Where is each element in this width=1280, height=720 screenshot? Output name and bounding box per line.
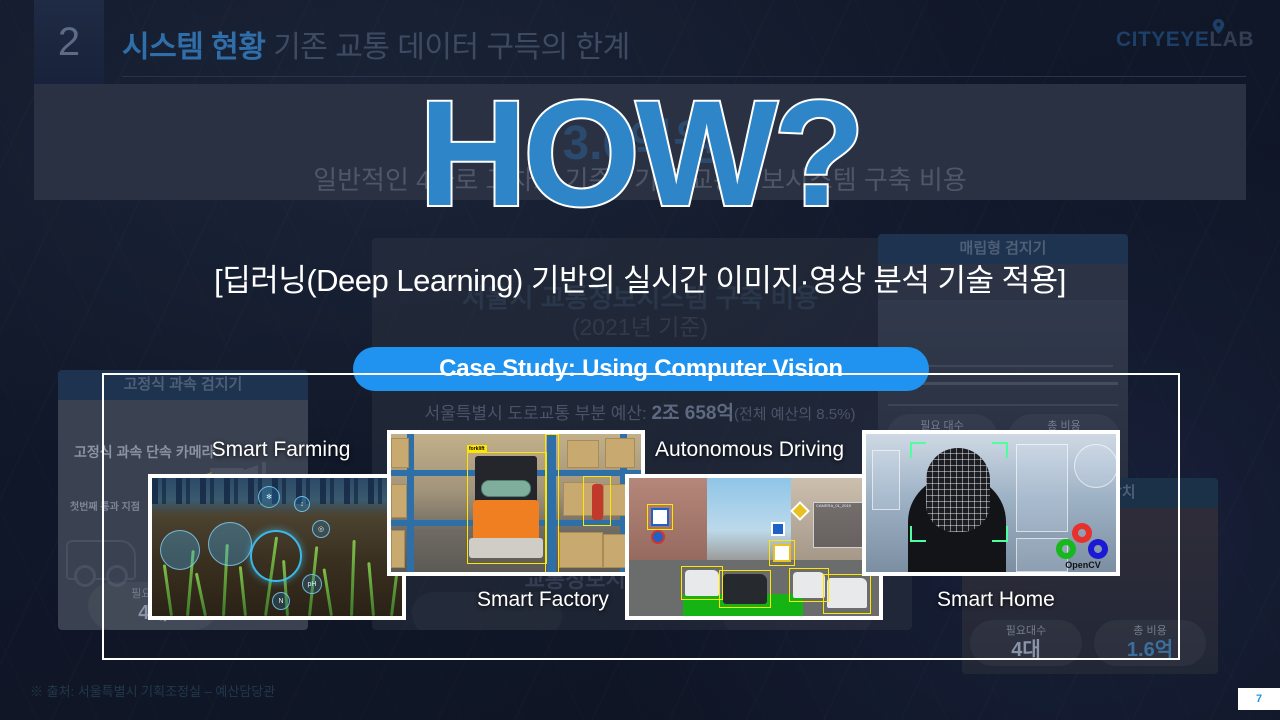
crosswalk-sign: [651, 508, 669, 526]
face-recognition-artwork: OpenCV: [866, 434, 1116, 572]
smart-factory-photo: forklift: [387, 430, 645, 576]
autonomous-driving-photo: CAMERA_01_2015: [625, 474, 883, 620]
source-note: ※ 출처: 서울특별시 기획조정실 – 예산담당관: [30, 681, 275, 700]
hud-panel: [1016, 444, 1068, 532]
card-label: Autonomous Driving: [655, 438, 844, 462]
location-pin-icon: [1212, 19, 1225, 34]
gas-tank: [481, 480, 531, 497]
brand-logo: CITYEYELAB: [1116, 28, 1254, 52]
page-title-rest: 기존 교통 데이터 구득의 한계: [273, 31, 630, 64]
crosswalk-sign: [773, 544, 791, 562]
vehicle-van: [793, 572, 825, 598]
hud-panel: [872, 450, 900, 510]
street-scene-artwork: CAMERA_01_2015: [629, 478, 879, 616]
agriculture-iot-artwork: ✻ ↕ ◎ pH N: [152, 478, 402, 616]
opencv-logo: OpenCV: [1054, 523, 1112, 569]
card-smart-factory[interactable]: forklift Smart Factory: [387, 430, 645, 576]
traffic-sign-no-parking: [651, 530, 665, 544]
page-title: 시스템 현황 기존 교통 데이터 구득의 한계: [122, 22, 630, 66]
vehicle-van: [685, 570, 719, 596]
face-bracket-icon: [992, 526, 1008, 542]
main-headline: [딥러닝(Deep Learning) 기반의 실시간 이미지·영상 분석 기술…: [0, 255, 1280, 300]
brand-logo-primary: CITYEYE: [1116, 28, 1209, 51]
card-smart-home[interactable]: OpenCV Smart Home: [862, 430, 1120, 576]
page-number: 7: [1238, 688, 1280, 710]
forklift-base: [469, 538, 543, 558]
detection-box-tag: forklift: [467, 445, 487, 453]
vehicle-car: [723, 574, 767, 604]
card-smart-farming[interactable]: Smart Farming ✻ ↕ ◎: [148, 474, 406, 620]
fire-extinguisher: [592, 484, 603, 520]
smart-home-photo: OpenCV: [862, 430, 1120, 576]
card-label: Smart Factory: [477, 588, 609, 612]
page-title-highlight: 시스템 현황: [122, 31, 265, 64]
section-number: 2: [58, 22, 80, 62]
card-label: Smart Home: [937, 588, 1055, 612]
face-bracket-icon: [910, 526, 926, 542]
vehicle-van: [827, 578, 867, 608]
card-label: Smart Farming: [152, 438, 410, 462]
warehouse-artwork: forklift: [391, 434, 641, 572]
slide-canvas: 3.6억원 일반적인 4차로 고차로 기준 / 기존 교통정보시스템 구축 비용…: [0, 0, 1280, 720]
traffic-sign-blue: [771, 522, 785, 536]
face-bracket-icon: [910, 442, 926, 458]
section-number-chip: 2: [34, 0, 104, 84]
hud-dial: [1074, 444, 1118, 488]
how-headline: HOW?: [0, 78, 1280, 228]
face-bracket-icon: [992, 442, 1008, 458]
opencv-logo-text: OpenCV: [1054, 560, 1112, 570]
face-mesh-overlay: [926, 448, 990, 532]
smart-farming-photo: ✻ ↕ ◎ pH N: [148, 474, 406, 620]
card-autonomous-driving[interactable]: Autonomous Driving: [625, 474, 883, 620]
